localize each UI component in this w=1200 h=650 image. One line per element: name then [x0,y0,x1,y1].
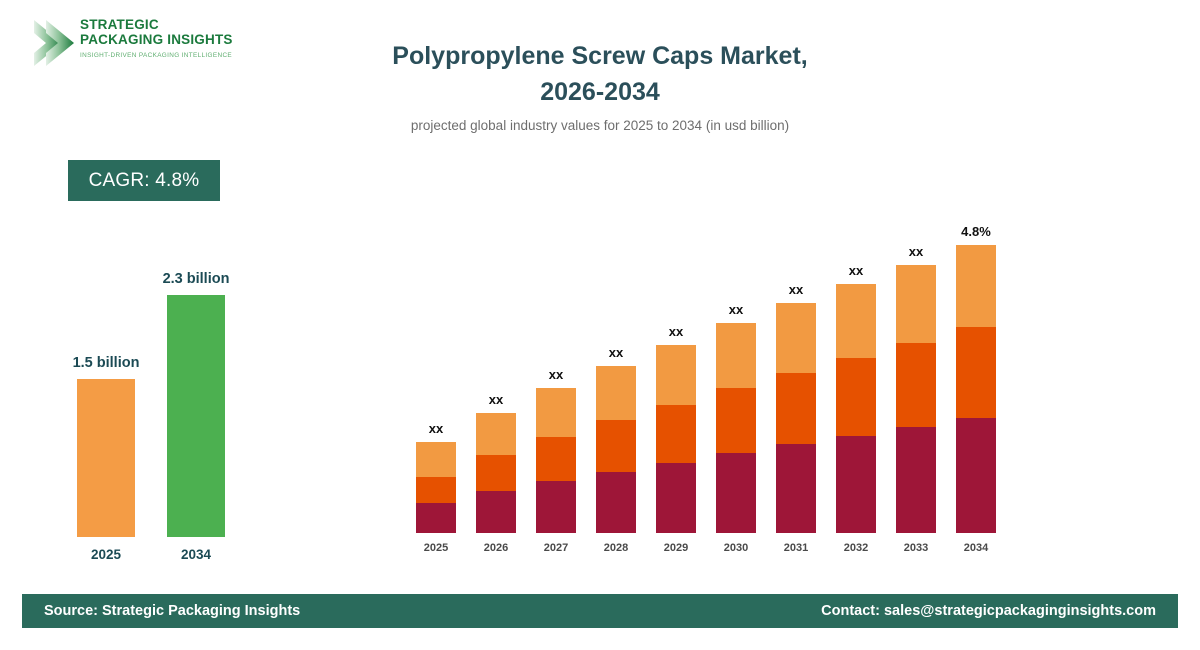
forecast-bar-segment-segment-middle [896,343,936,427]
comparison-year-label: 2034 [146,547,246,562]
forecast-bar-segment-segment-middle [716,388,756,453]
forecast-bar-group: xx2032 [836,223,876,560]
forecast-bar-group: xx2033 [896,223,936,560]
forecast-stacked-bar [476,413,516,533]
forecast-bar-segment-segment-middle [836,358,876,436]
forecast-stacked-bar [596,366,636,533]
forecast-bar-value-label: xx [751,282,841,297]
comparison-year-label: 2025 [56,547,156,562]
comparison-value-label: 1.5 billion [36,355,176,371]
title-line-2: 2026-2034 [300,74,900,110]
forecast-bar-segment-segment-bottom [716,453,756,533]
forecast-bar-segment-segment-middle [416,477,456,503]
footer-source: Source: Strategic Packaging Insights [44,603,300,619]
forecast-bar-segment-segment-top [896,265,936,343]
brand-wordmark: STRATEGIC PACKAGING INSIGHTS INSIGHT-DRI… [80,17,260,59]
forecast-bar-segment-segment-top [716,323,756,388]
forecast-bar-segment-segment-top [476,413,516,455]
forecast-stacked-bar [896,265,936,533]
forecast-bar-segment-segment-top [416,442,456,477]
page-subtitle: projected global industry values for 202… [300,118,900,133]
comparison-bar [167,295,225,537]
forecast-bar-segment-segment-top [836,284,876,358]
forecast-bar-group: xx2028 [596,223,636,560]
forecast-bar-segment-segment-middle [776,373,816,444]
title-line-1: Polypropylene Screw Caps Market, [300,38,900,74]
forecast-bar-value-label: xx [571,345,661,360]
chevron-arrow-icon [28,16,76,70]
forecast-bar-value-label: xx [811,263,901,278]
forecast-bar-value-label: xx [391,421,481,436]
forecast-bar-segment-segment-top [596,366,636,420]
forecast-stacked-bar [956,245,996,533]
logo-tagline: INSIGHT-DRIVEN PACKAGING INTELLIGENCE [80,52,260,59]
forecast-stacked-bar [776,303,816,533]
comparison-axis-cell: 2025 [77,537,135,570]
forecast-bar-value-label: xx [631,324,721,339]
cagr-badge-label: CAGR: 4.8% [89,170,200,192]
forecast-bar-group: xx2027 [536,223,576,560]
forecast-bar-segment-segment-top [536,388,576,437]
forecast-stacked-bar [536,388,576,533]
forecast-bar-value-label: 4.8% [931,224,1021,239]
forecast-bar-segment-segment-middle [596,420,636,472]
logo-line-2: PACKAGING INSIGHTS [80,32,260,47]
forecast-stacked-bar [656,345,696,533]
forecast-bar-group: xx2031 [776,223,816,560]
brand-logo: STRATEGIC PACKAGING INSIGHTS INSIGHT-DRI… [28,14,258,76]
comparison-bar [77,379,135,537]
forecast-bar-segment-segment-bottom [776,444,816,533]
forecast-bar-value-label: xx [691,302,781,317]
forecast-year-label: 2034 [941,542,1011,554]
forecast-bar-segment-segment-middle [476,455,516,491]
comparison-value-label: 2.3 billion [126,271,266,287]
forecast-stacked-bar [716,323,756,533]
forecast-bar-value-label: xx [451,392,541,407]
forecast-bar-segment-segment-top [956,245,996,327]
logo-line-1: STRATEGIC [80,17,260,32]
forecast-bar-segment-segment-middle [956,327,996,418]
footer-contact: Contact: sales@strategicpackaginginsight… [821,603,1156,619]
forecast-bar-segment-segment-bottom [476,491,516,533]
forecast-bar-segment-segment-bottom [956,418,996,533]
forecast-bar-group: xx2025 [416,223,456,560]
forecast-bar-group: xx2026 [476,223,516,560]
cagr-badge: CAGR: 4.8% [68,160,220,201]
comparison-bar-group: 1.5 billion [77,263,135,537]
forecast-bar-segment-segment-bottom [416,503,456,533]
forecast-bar-group: xx2029 [656,223,696,560]
forecast-stacked-bar [416,442,456,533]
forecast-bar-group: xx2030 [716,223,756,560]
forecast-bar-segment-segment-bottom [596,472,636,533]
forecast-bar-segment-segment-top [656,345,696,405]
forecast-bar-segment-segment-bottom [836,436,876,533]
comparison-bar-group: 2.3 billion [167,263,225,537]
forecast-bar-group: 4.8%2034 [956,223,996,560]
forecast-stacked-bar-chart: xx2025xx2026xx2027xx2028xx2029xx2030xx20… [400,190,1020,560]
comparison-axis-cell: 2034 [167,537,225,570]
page-title: Polypropylene Screw Caps Market, 2026-20… [300,38,900,133]
forecast-bar-segment-segment-middle [536,437,576,481]
comparison-bar-chart: 1.5 billion20252.3 billion2034 [55,230,285,570]
forecast-bar-segment-segment-middle [656,405,696,463]
forecast-bar-value-label: xx [511,367,601,382]
forecast-bar-segment-segment-top [776,303,816,373]
forecast-bar-value-label: xx [871,244,961,259]
chart-infographic: STRATEGIC PACKAGING INSIGHTS INSIGHT-DRI… [0,0,1200,650]
footer-bar: Source: Strategic Packaging Insights Con… [22,594,1178,628]
forecast-bar-segment-segment-bottom [656,463,696,533]
forecast-stacked-bar [836,284,876,533]
forecast-bar-segment-segment-bottom [896,427,936,533]
forecast-bar-segment-segment-bottom [536,481,576,533]
